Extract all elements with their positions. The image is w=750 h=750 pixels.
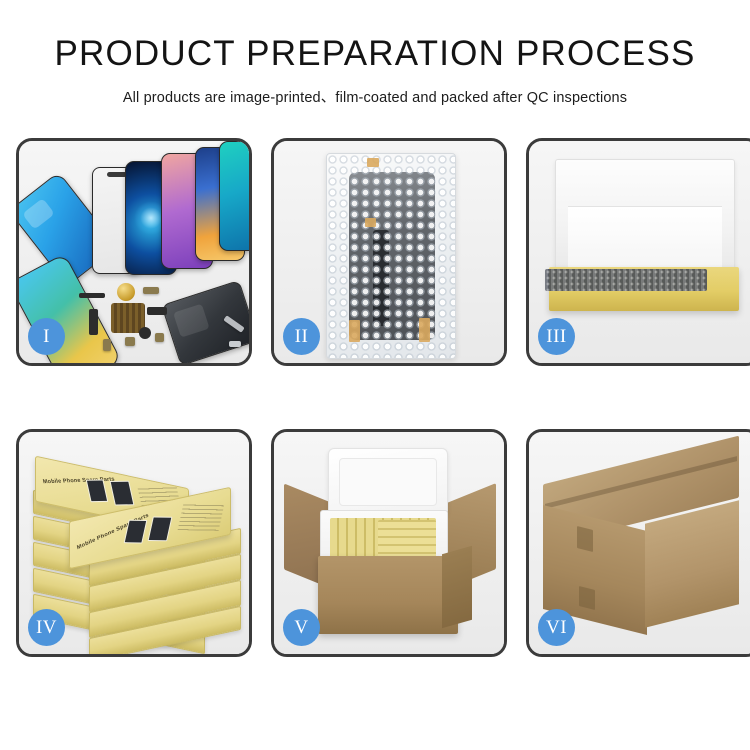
step-panel-5: V [271, 429, 507, 657]
carton-front [318, 556, 458, 634]
header: PRODUCT PREPARATION PROCESS All products… [0, 0, 750, 107]
foam-box-contents-right [378, 520, 436, 560]
part-flex-cable-2 [89, 309, 98, 335]
tape-middle [365, 218, 376, 227]
part-flex-cable-3 [147, 307, 167, 315]
shipping-carton-tape-upper [577, 526, 593, 552]
step-panel-6: VI [526, 429, 750, 657]
page-subtitle: All products are image-printed、film-coat… [0, 86, 750, 107]
step-badge-2: II [283, 318, 320, 355]
part-camera-module [139, 327, 151, 339]
part-connector-3 [103, 339, 111, 351]
part-flex-cable-1 [79, 293, 105, 298]
tape-bottom-right [419, 318, 430, 342]
shipping-carton-side [645, 500, 739, 627]
retail-box-spec-text-second [178, 503, 225, 530]
tape-top [367, 158, 379, 167]
page-title: PRODUCT PREPARATION PROCESS [0, 36, 750, 73]
bubble-texture [327, 154, 455, 358]
retail-box-thumb-top-2 [110, 481, 135, 506]
step-panel-3: III [526, 138, 750, 366]
inner-box-lid [555, 159, 735, 279]
part-connector-2 [125, 337, 135, 346]
bubble-wrap-bag [326, 153, 456, 359]
step-badge-5: V [283, 609, 320, 646]
retail-box-thumb-second-2 [148, 516, 173, 541]
part-speaker-gold [117, 283, 135, 301]
part-connector-1 [143, 287, 159, 294]
part-connector-4 [155, 333, 164, 342]
process-step-grid: I II [16, 138, 734, 686]
foam-box-lid [328, 448, 448, 516]
tape-bottom-left [349, 320, 360, 342]
step-badge-4: IV [28, 609, 65, 646]
phone-screen-teal [219, 141, 252, 251]
step-panel-1: I [16, 138, 252, 366]
shipping-carton-tape-lower [579, 586, 595, 610]
carton-side [442, 546, 472, 629]
step-badge-3: III [538, 318, 575, 355]
step-badge-1: I [28, 318, 65, 355]
step-panel-4: Mobile Phone Spare Parts Mobile Phone Sp… [16, 429, 252, 657]
tray-bubble-contents [545, 269, 707, 291]
step-panel-2: II [271, 138, 507, 366]
part-screwdriver-bit [229, 341, 241, 347]
retail-box-thumb-second-1 [124, 520, 148, 544]
product-preparation-infographic: PRODUCT PREPARATION PROCESS All products… [0, 0, 750, 750]
step-badge-6: VI [538, 609, 575, 646]
